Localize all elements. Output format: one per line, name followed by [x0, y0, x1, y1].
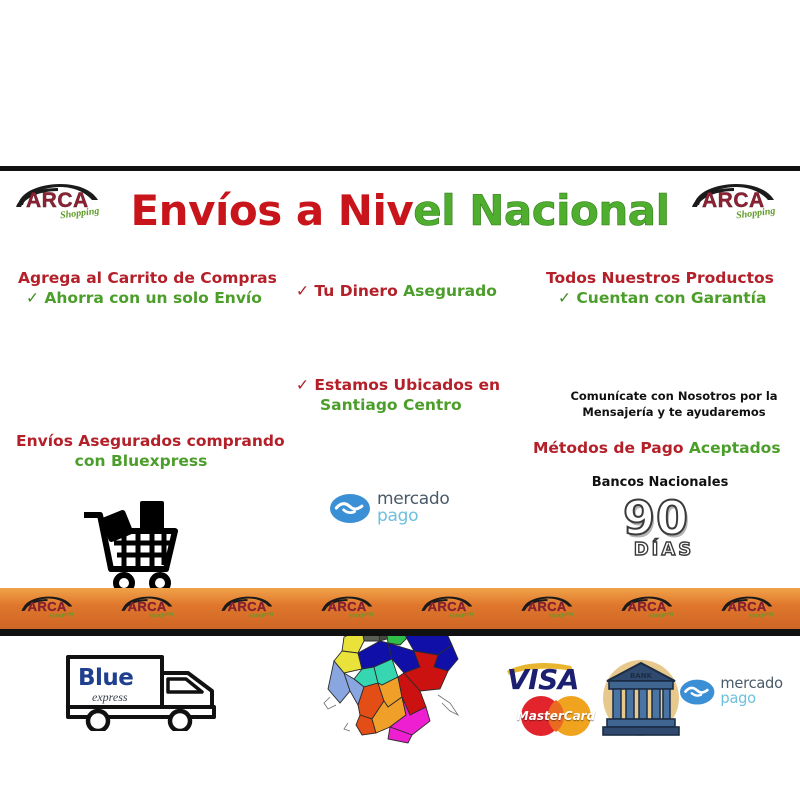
page-title: Envíos a Nivel Nacional [0, 186, 800, 235]
visa-logo-icon: VISA [505, 662, 597, 692]
footer-arca-logo: ARCAShopping [719, 594, 781, 623]
mastercard-logo-icon: MasterCard [508, 695, 604, 737]
mercadopago-handshake-icon [330, 494, 370, 523]
arca-logo: ARCAShopping [220, 594, 280, 623]
truck-brand-primary: Blue [78, 665, 133, 691]
footer-arca-logo: ARCAShopping [219, 594, 281, 623]
money-check-icon: ✓ [296, 282, 309, 300]
warranty-badge-unit: DÍAS [612, 539, 716, 560]
footer-arca-logo: ARCAShopping [419, 594, 481, 623]
cart-heading-line1: Agrega al Carrito de Compras [18, 269, 277, 287]
truck-brand-secondary: express [92, 690, 128, 705]
mercadopago-word-2: pago [377, 508, 450, 525]
payment-subtitle: Bancos Nacionales [520, 474, 800, 492]
footer-logo-ribbon: ARCAShoppingARCAShoppingARCAShoppingARCA… [0, 588, 800, 629]
money-heading-red: Tu Dinero [314, 282, 397, 300]
location-heading-line2: Santiago Centro [296, 396, 462, 414]
bank-building-icon: BANK [601, 657, 681, 739]
cart-heading-line2: Ahorra con un solo Envío [44, 289, 261, 307]
visa-wordmark: VISA [507, 663, 579, 696]
location-check-icon: ✓ [296, 376, 309, 394]
bank-label: BANK [630, 672, 653, 680]
warranty-note-line2: Mensajería y te ayudaremos [582, 405, 765, 419]
cart-check-icon: ✓ [26, 289, 39, 307]
page-title-red: Envíos a Niv [130, 186, 413, 235]
footer-arca-logo: ARCAShopping [19, 594, 81, 623]
payment-heading: Métodos de Pago Aceptados [533, 438, 781, 458]
arca-logo: ARCAShopping [420, 594, 480, 623]
cart-heading: Agrega al Carrito de Compras ✓ Ahorra co… [18, 268, 277, 309]
location-heading-line1: Estamos Ubicados en [314, 376, 500, 394]
location-heading: ✓ Estamos Ubicados en Santiago Centro [296, 375, 500, 416]
arca-logo: ARCAShopping [620, 594, 680, 623]
mastercard-wordmark: MasterCard [514, 709, 598, 723]
arca-logo: ARCAShopping [320, 594, 380, 623]
infographic-canvas: ARCA Shopping ARCA Shopping Envíos a Niv… [0, 0, 800, 800]
warranty-heading-line1: Todos Nuestros Productos [546, 269, 774, 287]
warranty-note-line1: Comunícate con Nosotros por la [570, 389, 777, 403]
warranty-badge-number: 90 [604, 491, 708, 545]
bluexpress-truck-icon: Blue express [62, 649, 228, 731]
shopping-cart-icon [78, 497, 190, 593]
mercadopago-word-2: pago [720, 692, 782, 707]
arca-logo: ARCAShopping [20, 594, 80, 623]
footer-arca-logo: ARCAShopping [519, 594, 581, 623]
arca-logo: ARCAShopping [120, 594, 180, 623]
warranty-note: Comunícate con Nosotros por la Mensajerí… [548, 389, 800, 420]
arca-logo: ARCAShopping [720, 594, 780, 623]
payment-heading-green: Aceptados [689, 439, 781, 457]
infographic-body: ARCA Shopping ARCA Shopping Envíos a Niv… [0, 171, 800, 588]
warranty-heading: Todos Nuestros Productos ✓ Cuentan con G… [546, 268, 774, 309]
mercadopago-logo-icon: mercado pago [330, 491, 450, 526]
money-heading: ✓ Tu Dinero Asegurado [296, 281, 497, 301]
shipping-heading-line1: Envíos Asegurados comprando [16, 432, 285, 450]
shipping-heading: Envíos Asegurados comprando con Bluexpre… [16, 431, 266, 472]
footer-arca-logo: ARCAShopping [119, 594, 181, 623]
90-days-warranty-badge-icon: 90 DÍAS [598, 497, 710, 565]
shipping-heading-line2: con Bluexpress [75, 452, 208, 470]
mercadopago-wordmark: mercado pago [377, 491, 450, 526]
warranty-heading-line2: Cuentan con Garantía [576, 289, 766, 307]
mercadopago-logo-icon-payment: mercado pago [680, 677, 783, 707]
mercadopago-wordmark: mercado pago [720, 677, 782, 707]
page-title-green: el Nacional [413, 186, 669, 235]
arca-logo: ARCAShopping [520, 594, 580, 623]
payment-heading-red: Métodos de Pago [533, 439, 684, 457]
footer-arca-logo: ARCAShopping [319, 594, 381, 623]
warranty-check-icon: ✓ [558, 289, 571, 307]
mercadopago-handshake-icon [680, 679, 714, 704]
footer-arca-logo: ARCAShopping [619, 594, 681, 623]
bottom-frame-rule [0, 629, 800, 636]
money-heading-green: Asegurado [403, 282, 497, 300]
